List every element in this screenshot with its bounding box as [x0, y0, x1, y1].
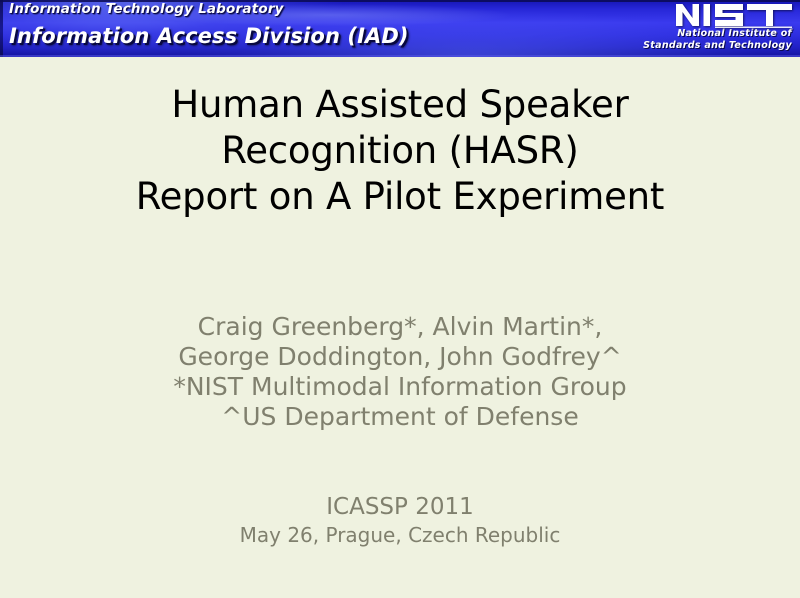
slide-title: Human Assisted Speaker Recognition (HASR…	[0, 82, 800, 220]
laboratory-name: Information Technology Laboratory	[9, 1, 284, 17]
affiliation-line-2: ^US Department of Defense	[0, 402, 800, 432]
conference-name: ICASSP 2011	[0, 492, 800, 522]
affiliation-line-1: *NIST Multimodal Information Group	[0, 372, 800, 402]
title-line-3: Report on A Pilot Experiment	[0, 174, 800, 220]
title-line-2: Recognition (HASR)	[0, 128, 800, 174]
banner-left-edge	[0, 0, 3, 57]
nist-logo: National Institute of Standards and Tech…	[621, 2, 793, 52]
author-line-2: George Doddington, John Godfrey^	[0, 342, 800, 372]
division-name: Information Access Division (IAD)	[9, 24, 409, 48]
author-affiliation-block: Craig Greenberg*, Alvin Martin*, George …	[0, 312, 800, 432]
presentation-slide: Information Technology Laboratory Inform…	[0, 0, 800, 598]
author-line-1: Craig Greenberg*, Alvin Martin*,	[0, 312, 800, 342]
nist-wordmark-icon	[675, 2, 793, 28]
nist-subtitle-line-1: National Institute of	[621, 28, 793, 40]
venue-block: ICASSP 2011 May 26, Prague, Czech Republ…	[0, 492, 800, 549]
banner-bottom-edge	[0, 55, 800, 57]
nist-itl-banner: Information Technology Laboratory Inform…	[0, 0, 800, 57]
title-line-1: Human Assisted Speaker	[0, 82, 800, 128]
conference-location: May 26, Prague, Czech Republic	[0, 522, 800, 549]
nist-subtitle-line-2: Standards and Technology	[621, 40, 793, 52]
